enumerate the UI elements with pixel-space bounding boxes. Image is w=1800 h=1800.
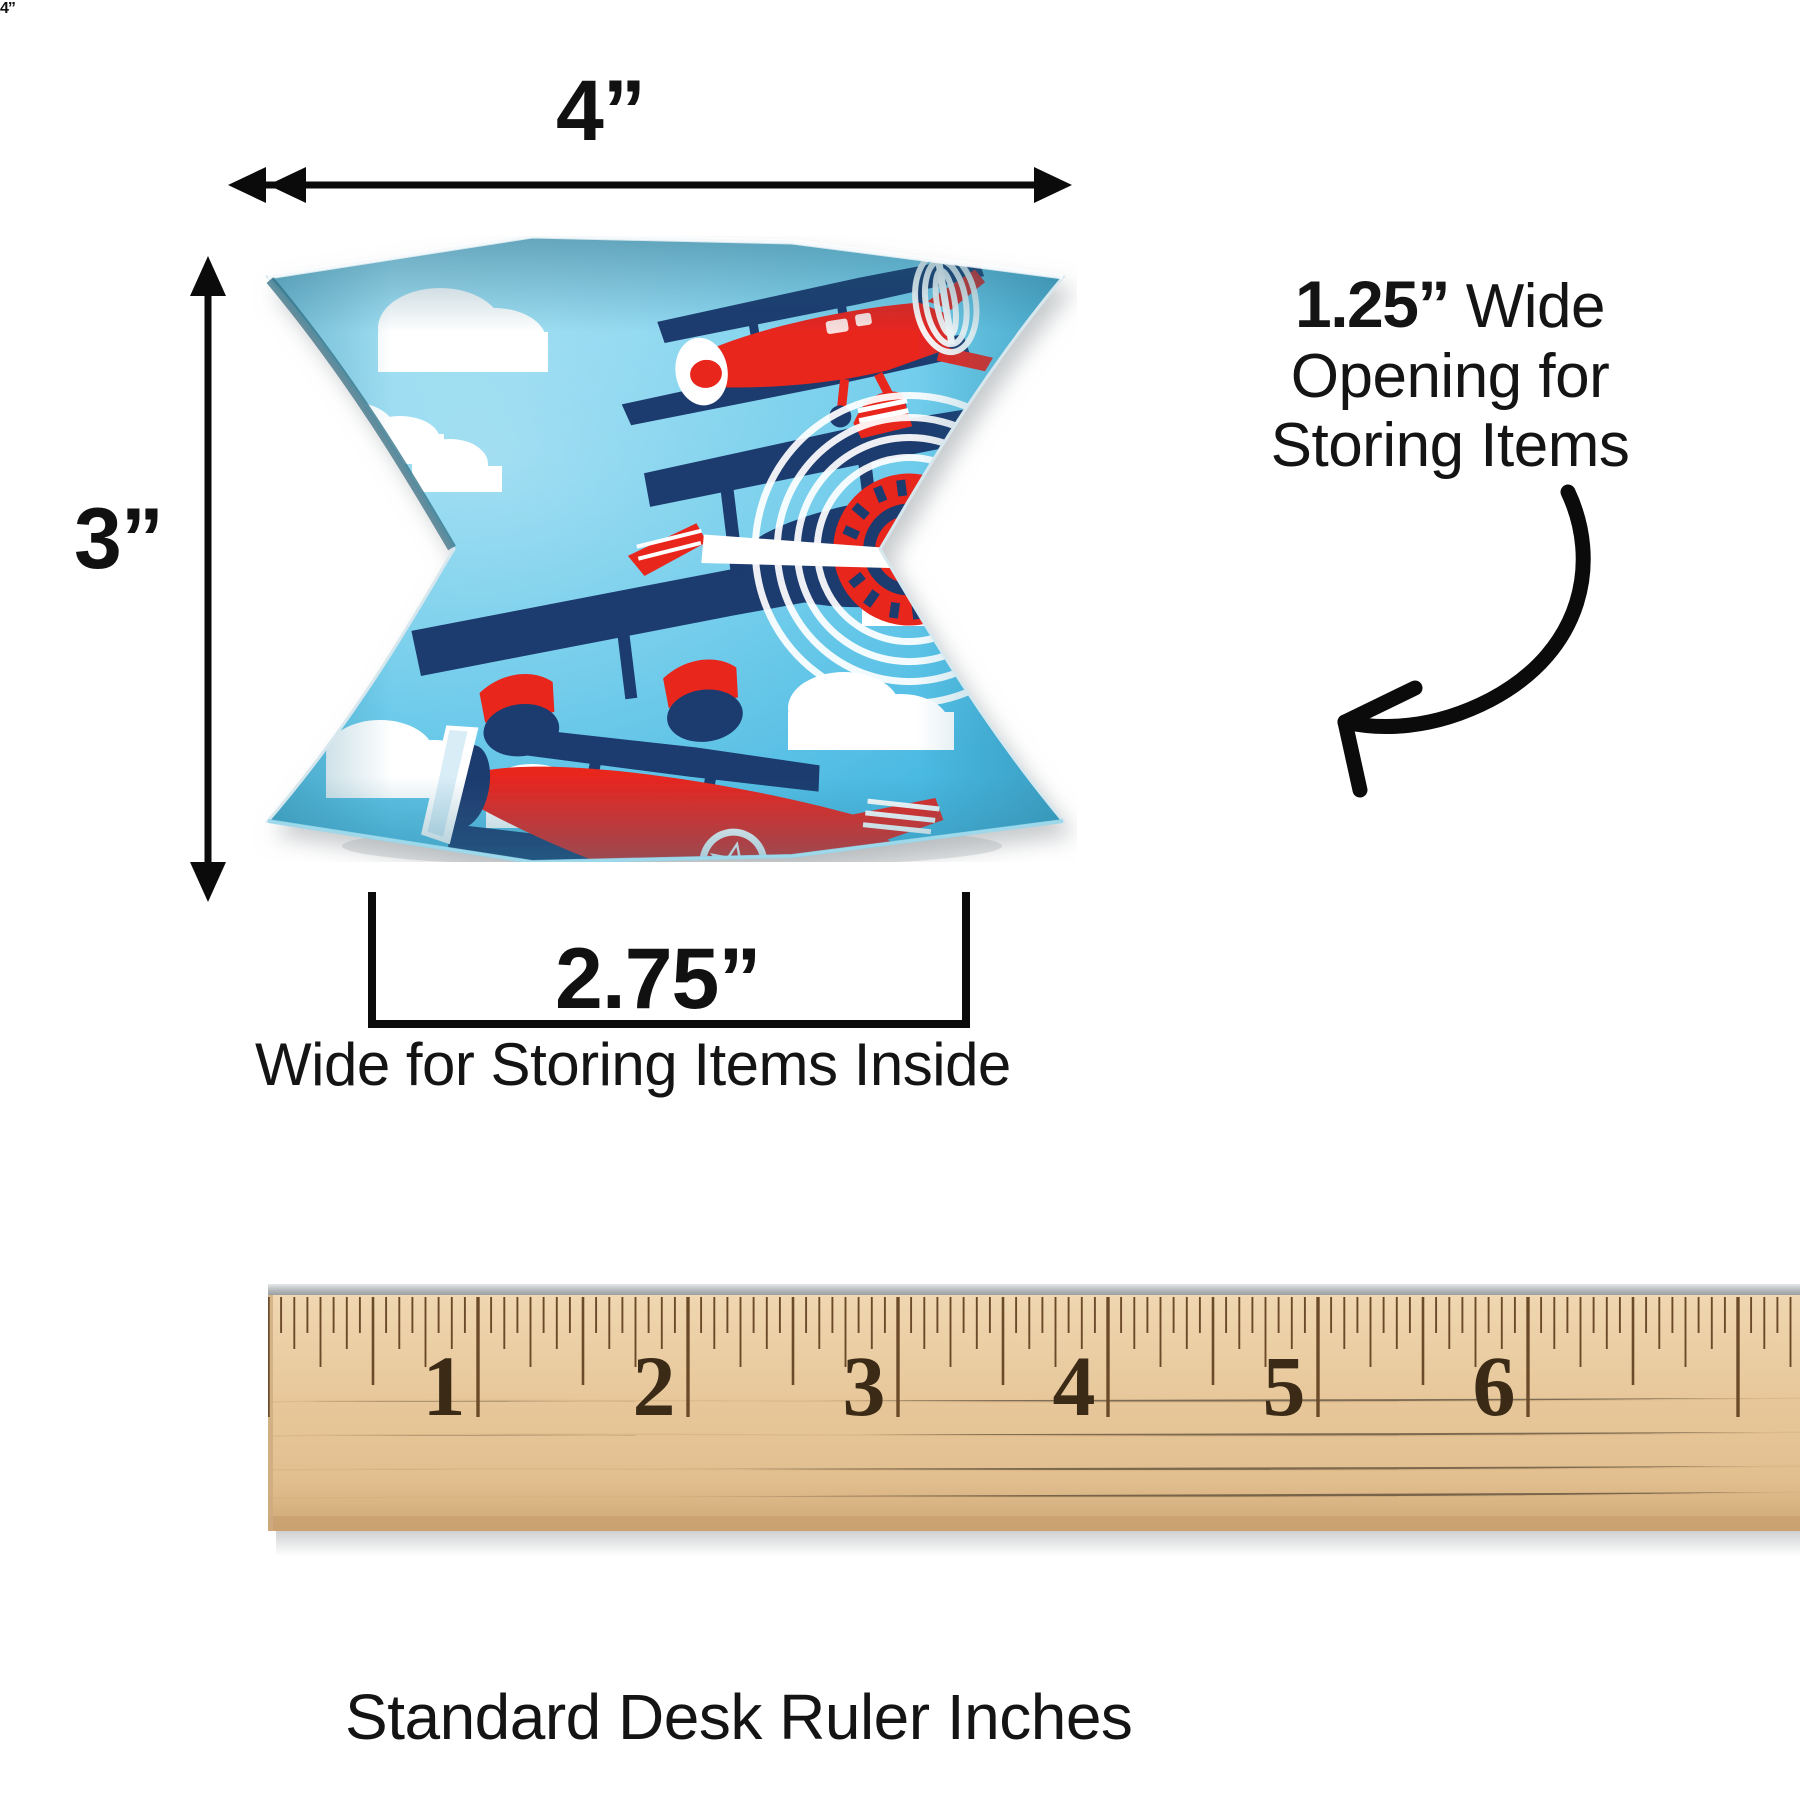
- opening-line-1: 1.25” Wide: [1120, 268, 1780, 342]
- double-arrow-horizontal-icon: [228, 167, 1072, 203]
- double-arrow-vertical-icon: [190, 256, 226, 902]
- box-body: [232, 236, 1077, 862]
- ruler-inch-number: 1: [423, 1338, 466, 1434]
- width-dimension-label: 4”: [0, 0, 15, 18]
- ruler-inch-number: 4: [1053, 1338, 1096, 1434]
- curved-arrow-left-icon: [1345, 492, 1583, 790]
- infographic-canvas: 4” 4” 3” 2.75” Wide for Storing Items In…: [0, 0, 1800, 1800]
- ruler-caption: Standard Desk Ruler Inches: [345, 1680, 1132, 1754]
- desk-ruler: 123456: [268, 1284, 1800, 1574]
- ruler-inch-number: 5: [1263, 1338, 1306, 1434]
- height-value: 3”: [74, 490, 163, 589]
- ruler-inch-number: 3: [843, 1338, 886, 1434]
- box-printed-pattern: [232, 236, 1077, 862]
- width-value: 4”: [556, 62, 645, 161]
- opening-line-3: Storing Items: [1120, 411, 1780, 480]
- ruler-bottom-bevel: [268, 1516, 1800, 1531]
- opening-annotation: 1.25” Wide Opening for Storing Items: [1120, 268, 1780, 481]
- opening-line-2: Opening for: [1120, 342, 1780, 411]
- ruler-inch-number: 2: [633, 1338, 676, 1434]
- opening-word-wide: Wide: [1449, 272, 1605, 341]
- base-width-value: 2.75”: [555, 930, 760, 1029]
- base-width-caption: Wide for Storing Items Inside: [255, 1030, 1011, 1099]
- opening-value: 1.25”: [1295, 267, 1449, 341]
- ruler-shadow: [276, 1530, 1800, 1556]
- ruler-inch-number: 6: [1473, 1338, 1516, 1434]
- pillow-box-product: [232, 236, 1077, 862]
